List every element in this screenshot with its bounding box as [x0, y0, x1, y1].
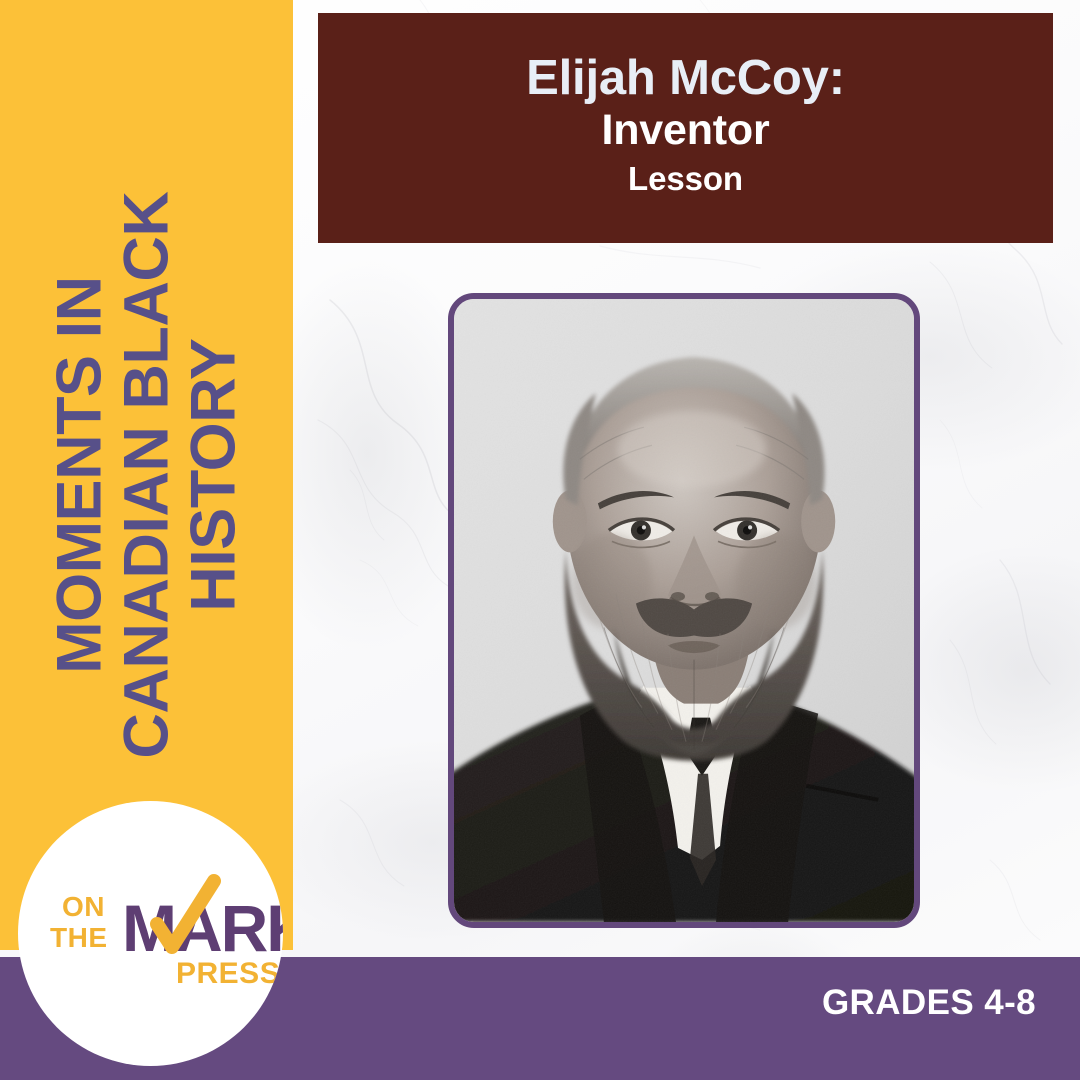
on-the-mark-press-logo: ON THE MARK PRESS — [18, 801, 283, 1066]
series-title-line-1: MOMENTS IN — [46, 192, 113, 759]
lesson-doc-type: Lesson — [628, 159, 743, 199]
logo-word-press: PRESS — [176, 957, 280, 990]
resource-cover: MOMENTS IN CANADIAN BLACK HISTORY Elijah… — [0, 0, 1080, 1080]
logo-word-the: THE — [50, 922, 108, 953]
title-banner: Elijah McCoy: Inventor Lesson — [318, 13, 1053, 243]
series-title-line-3: HISTORY — [180, 192, 247, 759]
portrait-photo — [454, 299, 914, 922]
portrait-frame — [448, 293, 920, 928]
lesson-subtitle: Inventor — [601, 106, 769, 155]
lesson-title: Elijah McCoy: — [526, 51, 845, 106]
series-title: MOMENTS IN CANADIAN BLACK HISTORY — [46, 192, 246, 759]
series-title-line-2: CANADIAN BLACK — [113, 192, 180, 759]
grades-label: GRADES 4-8 — [822, 983, 1036, 1023]
logo-word-on: ON — [62, 891, 105, 922]
publisher-logo: ON THE MARK PRESS — [18, 801, 283, 1066]
